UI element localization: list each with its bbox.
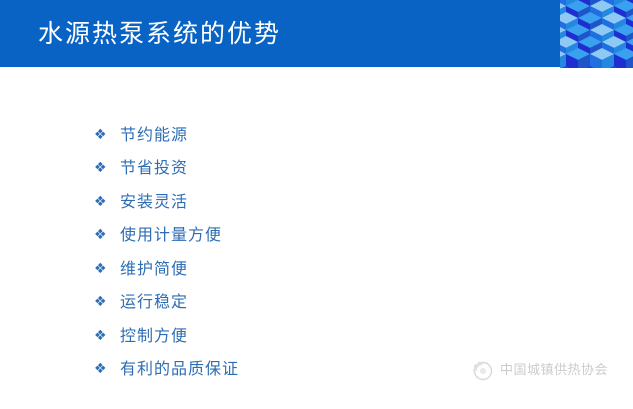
list-item-label: 运行稳定 [120,291,188,313]
diamond-bullet-icon: ❖ [94,262,120,276]
diamond-bullet-icon: ❖ [94,195,120,209]
watermark-label: 中国城镇供热协会 [500,362,608,380]
list-item: ❖ 运行稳定 [94,286,514,320]
list-item: ❖ 安装灵活 [94,185,514,219]
diamond-bullet-icon: ❖ [94,128,120,142]
list-item: ❖ 维护简便 [94,252,514,286]
isometric-cube-pattern-icon [560,0,633,68]
list-item: ❖ 控制方便 [94,319,514,353]
list-item-label: 节约能源 [120,124,188,146]
diamond-bullet-icon: ❖ [94,362,120,376]
list-item-label: 维护简便 [120,258,188,280]
watermark: 中国城镇供热协会 [470,358,608,384]
list-item-label: 使用计量方便 [120,224,222,246]
list-item: ❖ 节约能源 [94,118,514,152]
association-logo-icon [470,358,496,384]
list-item-label: 控制方便 [120,325,188,347]
diamond-bullet-icon: ❖ [94,161,120,175]
slide-canvas: 水源热泵系统的优势 [0,0,633,409]
list-item: ❖ 有利的品质保证 [94,353,514,387]
list-item-label: 有利的品质保证 [120,358,239,380]
diamond-bullet-icon: ❖ [94,228,120,242]
bullet-list: ❖ 节约能源 ❖ 节省投资 ❖ 安装灵活 ❖ 使用计量方便 ❖ 维护简便 ❖ 运… [94,118,514,386]
diamond-bullet-icon: ❖ [94,295,120,309]
list-item-label: 安装灵活 [120,191,188,213]
list-item: ❖ 节省投资 [94,152,514,186]
list-item-label: 节省投资 [120,157,188,179]
header-underline [0,64,633,67]
page-title: 水源热泵系统的优势 [38,18,281,50]
diamond-bullet-icon: ❖ [94,329,120,343]
list-item: ❖ 使用计量方便 [94,219,514,253]
